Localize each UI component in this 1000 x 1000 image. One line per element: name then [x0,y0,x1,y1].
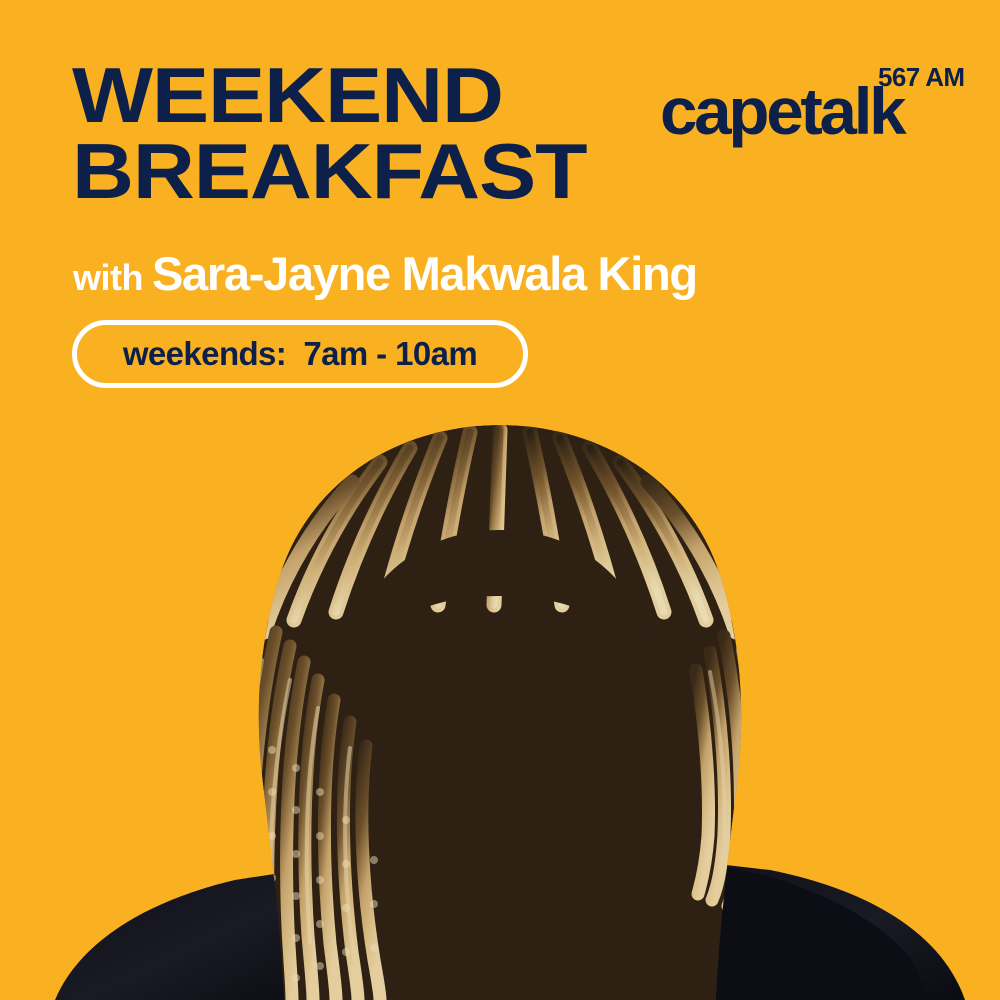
show-title-line-1: WEEKEND [72,58,586,134]
host-name: Sara-Jayne Makwala King [152,247,697,300]
show-title: WEEKEND BREAKFAST [72,58,540,209]
host-line: withSara-Jayne Makwala King [73,246,697,301]
host-preposition: with [73,257,143,298]
station-logo-wordmark: capetalk [660,78,903,144]
host-portrait [0,400,1000,1000]
show-title-line-2: BREAKFAST [72,134,586,210]
promo-poster: capetalk 567 AM WEEKEND BREAKFAST withSa… [0,0,1000,1000]
station-logo-frequency: 567 AM [878,64,964,90]
schedule-pill: weekends: 7am - 10am [72,320,528,388]
braided-hair [234,425,754,1000]
schedule-text: weekends: 7am - 10am [123,335,477,373]
station-logo[interactable]: capetalk 567 AM [660,60,970,150]
